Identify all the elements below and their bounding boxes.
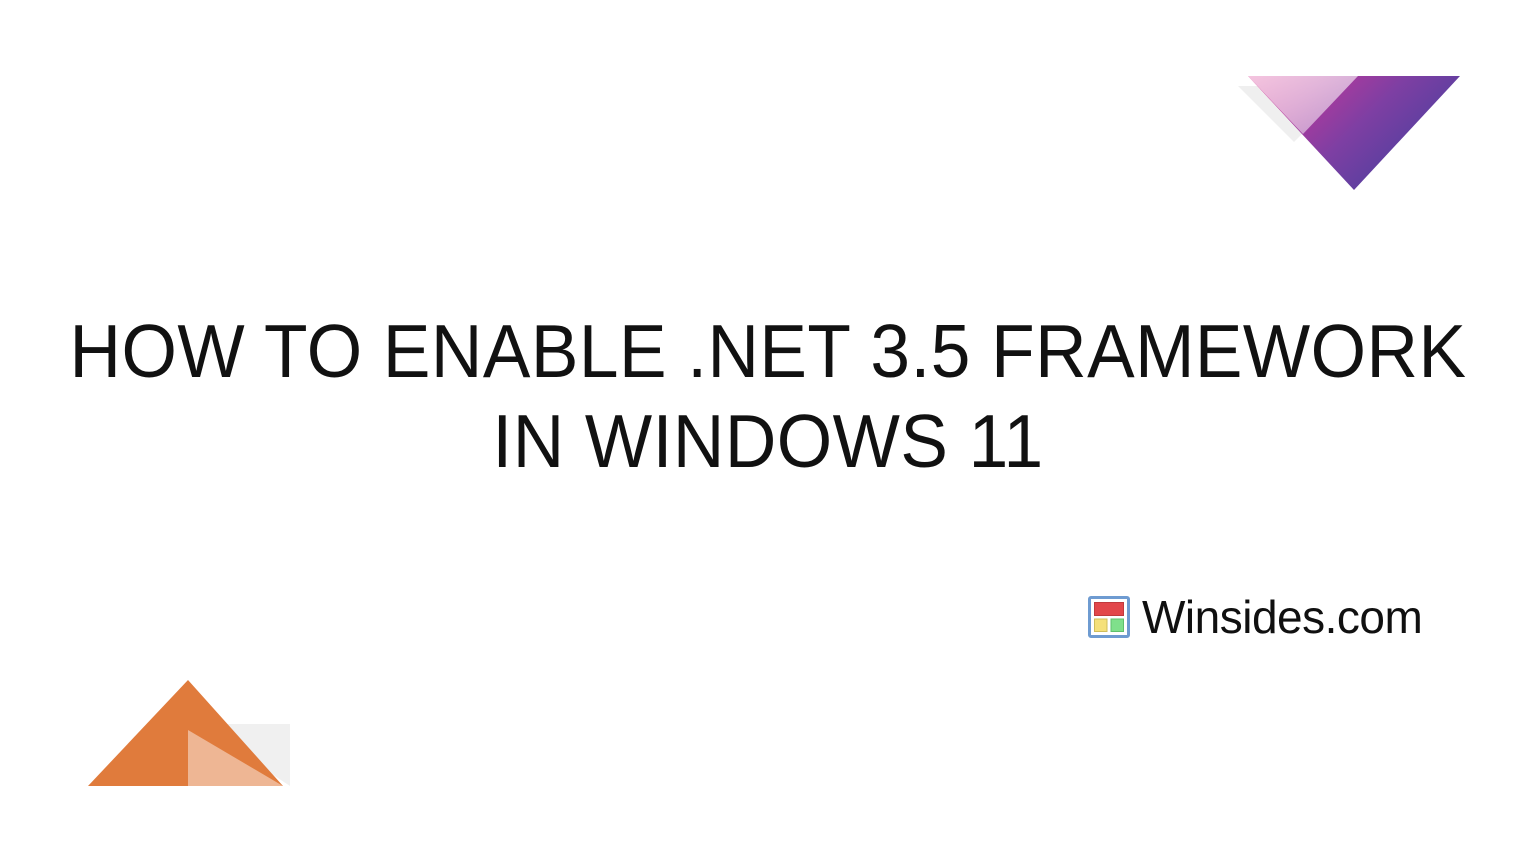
winsides-logo-icon — [1088, 596, 1130, 638]
bottom-left-triangle-decoration — [78, 668, 298, 796]
purple-triangle-icon — [1232, 62, 1464, 202]
brand-lockup: Winsides.com — [1088, 594, 1422, 640]
top-right-triangle-decoration — [1232, 62, 1464, 202]
title-line-2: IN WINDOWS 11 — [38, 396, 1497, 486]
logo-top-block — [1095, 603, 1124, 616]
title-line-1: HOW TO ENABLE .NET 3.5 FRAMEWORK — [38, 306, 1497, 396]
orange-triangle-icon — [78, 668, 298, 796]
logo-bottom-left-block — [1095, 619, 1108, 632]
brand-name: Winsides.com — [1142, 594, 1422, 640]
logo-bottom-right-block — [1111, 619, 1124, 632]
page-title: HOW TO ENABLE .NET 3.5 FRAMEWORK IN WIND… — [0, 306, 1536, 486]
